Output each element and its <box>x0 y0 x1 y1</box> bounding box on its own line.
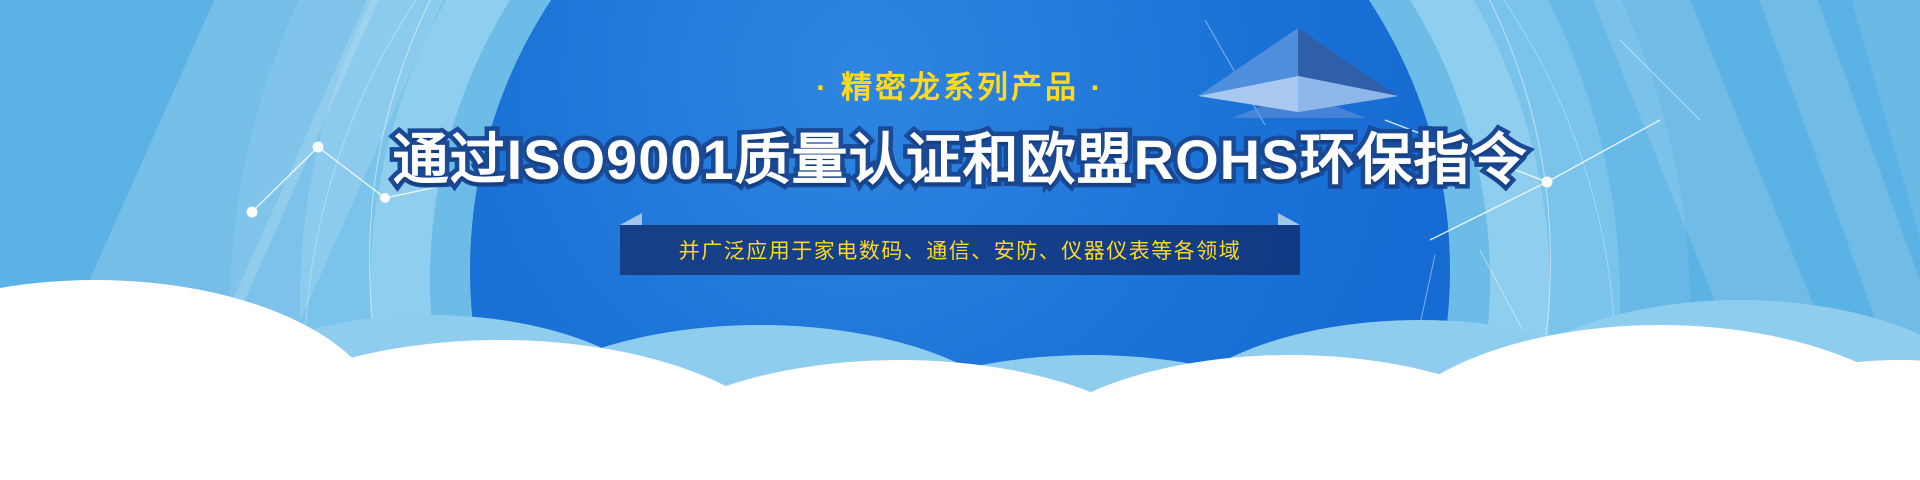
ribbon-fold-right-icon <box>1278 213 1300 225</box>
cloud-layer <box>0 250 1920 480</box>
headline-text: 通过ISO9001质量认证和欧盟ROHS环保指令 <box>0 129 1920 191</box>
ribbon-fold-left-icon <box>620 213 642 225</box>
promo-banner: · 精密龙系列产品 · 通过ISO9001质量认证和欧盟ROHS环保指令 并广泛… <box>0 0 1920 480</box>
eyebrow-text: · 精密龙系列产品 · <box>0 72 1920 103</box>
cloud-front <box>0 280 1920 480</box>
banner-content: · 精密龙系列产品 · 通过ISO9001质量认证和欧盟ROHS环保指令 并广泛… <box>0 0 1920 275</box>
